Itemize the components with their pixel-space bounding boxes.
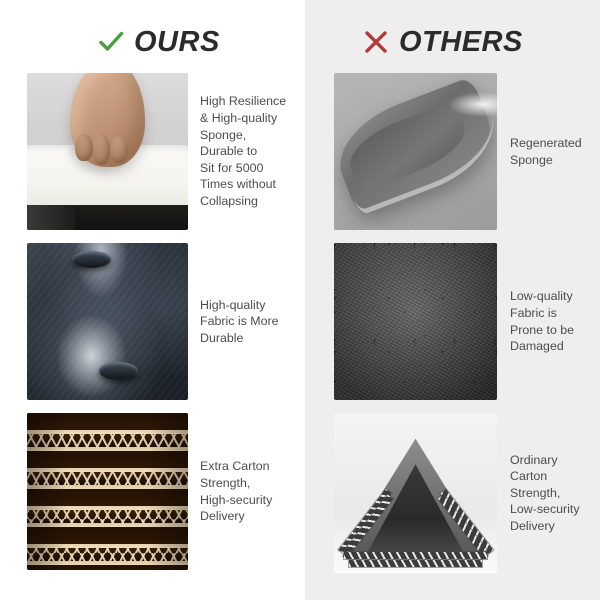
ours-column-header: OURS xyxy=(98,22,220,62)
cardboard-flute-edge xyxy=(349,560,483,567)
hand-shape xyxy=(70,73,144,167)
others-feature-row-1: Regenerated Sponge xyxy=(334,73,600,230)
ours-title: OURS xyxy=(134,28,220,57)
gray-folded-corrugated-cardboard-image xyxy=(334,413,497,573)
knuckle-shape xyxy=(75,134,93,161)
ours-feature-caption-2: High-quality Fabric is More Durable xyxy=(200,297,300,347)
others-title: OTHERS xyxy=(399,28,523,57)
vignette-overlay xyxy=(334,243,497,400)
ours-feature-row-1: High Resilience & High-quality Sponge, D… xyxy=(27,73,300,230)
specular-highlight xyxy=(448,92,497,117)
others-feature-caption-2: Low-quality Fabric is Prone to be Damage… xyxy=(510,288,600,354)
gray-regenerated-sponge-sheet-image xyxy=(334,73,497,230)
ours-feature-row-2: High-quality Fabric is More Durable xyxy=(27,243,300,400)
brown-corrugated-cardboard-layers-image xyxy=(27,413,188,570)
comparison-infographic: OURS OTHERS High Resilience & High-quali… xyxy=(0,0,600,600)
tufting-button xyxy=(72,251,111,268)
hand-pressing-white-foam-image xyxy=(27,73,188,230)
cross-icon xyxy=(363,29,389,55)
edge-shading-overlay xyxy=(27,413,188,570)
cracked-gray-fabric-image xyxy=(334,243,497,400)
knuckle-shape xyxy=(93,134,111,165)
ours-feature-row-3: Extra Carton Strength, High-security Del… xyxy=(27,413,300,570)
others-feature-row-2: Low-quality Fabric is Prone to be Damage… xyxy=(334,243,600,400)
tufting-button xyxy=(99,362,138,379)
knuckle-shape xyxy=(110,136,128,163)
others-feature-row-3: Ordinary Carton Strength, Low-security D… xyxy=(334,413,600,573)
check-icon xyxy=(98,29,124,55)
others-feature-caption-1: Regenerated Sponge xyxy=(510,135,600,168)
ours-feature-caption-3: Extra Carton Strength, High-security Del… xyxy=(200,458,300,524)
others-feature-caption-3: Ordinary Carton Strength, Low-security D… xyxy=(510,452,600,535)
dark-tufted-leather-image xyxy=(27,243,188,400)
cardboard-flute-edge xyxy=(344,552,487,559)
others-column-header: OTHERS xyxy=(363,22,523,62)
dark-base-band xyxy=(27,205,188,230)
ours-feature-caption-1: High Resilience & High-quality Sponge, D… xyxy=(200,93,300,209)
